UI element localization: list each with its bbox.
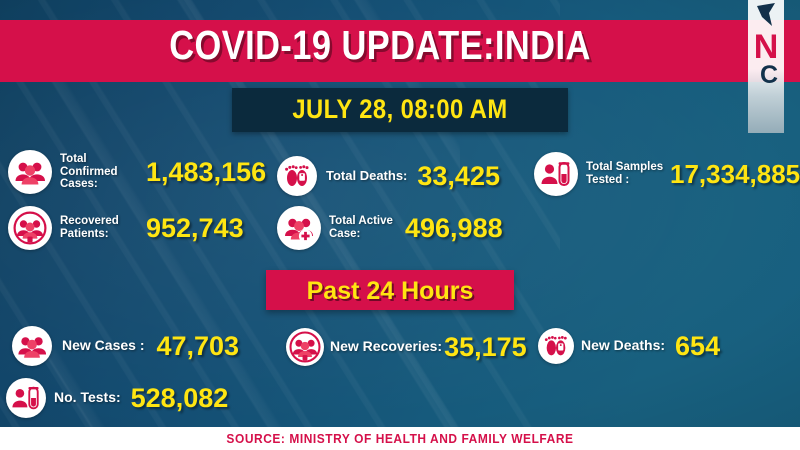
source-label: SOURCE: MINISTRY OF HEALTH AND FAMILY WE…	[32, 431, 768, 446]
stat-new-cases: New Cases : 47,703	[12, 326, 239, 366]
stat-total-samples-tested: Total Samples Tested : 17,334,885	[534, 152, 800, 196]
stat-recovered-patients: Recovered Patients: 952,743	[8, 206, 244, 250]
past-24-hours-label: Past 24 Hours	[266, 277, 514, 306]
people-medical-cross-icon	[277, 206, 321, 250]
stat-label: New Cases :	[62, 338, 144, 354]
arrow-mark-icon	[757, 3, 775, 26]
stat-label: Recovered Patients:	[60, 215, 138, 241]
people-group-icon	[8, 150, 52, 194]
stat-total-active-case: Total Active Case: 496,988	[277, 206, 503, 250]
stat-value: 17,334,885	[670, 159, 800, 190]
stat-value: 1,483,156	[146, 157, 266, 188]
feet-toe-tag-icon	[538, 328, 574, 364]
stat-new-recoveries: New Recoveries: 35,175	[286, 328, 527, 366]
page-title: COVID-19 UPDATE:INDIA	[61, 22, 699, 69]
stat-label: New Deaths:	[581, 338, 665, 354]
date-label: JULY 28, 08:00 AM	[252, 94, 548, 125]
stat-label: Total Active Case:	[329, 215, 399, 241]
feet-toe-tag-icon	[277, 156, 317, 196]
stat-label: No. Tests:	[54, 390, 121, 406]
stat-label: Total Deaths:	[326, 169, 407, 184]
stat-label: New Recoveries:	[330, 339, 442, 355]
stat-value: 528,082	[131, 383, 229, 414]
stat-value: 33,425	[417, 161, 500, 192]
covid-update-poster: COVID-19 UPDATE:INDIA JULY 28, 08:00 AM …	[0, 0, 800, 450]
svg-text:C: C	[760, 61, 778, 89]
stat-value: 952,743	[146, 213, 244, 244]
stat-total-confirmed-cases: Total Confirmed Cases: 1,483,156	[8, 150, 266, 194]
stat-total-deaths: Total Deaths: 33,425	[277, 156, 500, 196]
stat-value: 47,703	[156, 331, 239, 362]
stat-new-deaths: New Deaths: 654	[538, 328, 720, 364]
stat-value: 496,988	[405, 213, 503, 244]
stat-value: 654	[675, 331, 720, 362]
people-recovery-ring-icon	[286, 328, 324, 366]
stat-label: Total Samples Tested :	[586, 161, 670, 187]
person-test-tube-icon	[6, 378, 46, 418]
stat-label: Total Confirmed Cases:	[60, 153, 144, 192]
channel-logo: N C	[748, 0, 784, 133]
stat-value: 35,175	[444, 332, 527, 363]
stat-no-tests: No. Tests: 528,082	[6, 378, 228, 418]
person-test-tube-icon	[534, 152, 578, 196]
people-group-icon	[12, 326, 52, 366]
people-recovery-ring-icon	[8, 206, 52, 250]
